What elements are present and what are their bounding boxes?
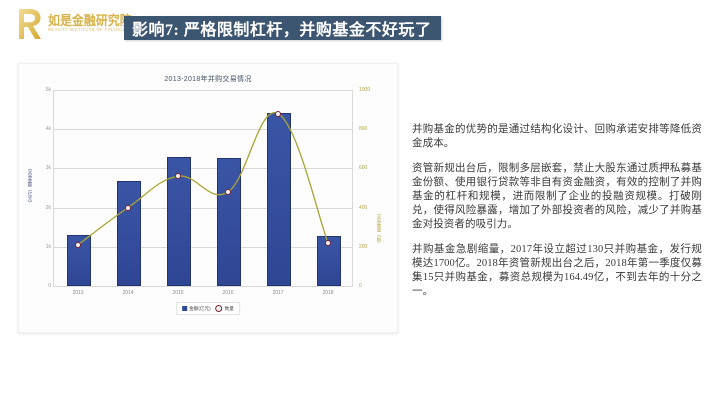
logo-r-mark-icon (12, 6, 48, 42)
chart-y-tick-left: 2k (46, 205, 51, 211)
legend-item-bar: 金额(亿元) (182, 306, 210, 312)
chart-y-tick-left: 3k (46, 165, 51, 171)
brand-logo: 如是金融研究院 REALITY INSTITUTE OF FINANCE (12, 6, 124, 42)
legend-swatch-bar-icon (182, 306, 187, 311)
chart-line-marker (175, 173, 181, 179)
chart-plot-area: 001k2002k4003k6004k8005k1000201320142015… (53, 90, 353, 286)
paragraph-2: 资管新规出台后，限制多层嵌套，禁止大股东通过质押私募基金份额、使用银行贷款等非自… (412, 162, 702, 232)
chart-x-tick: 2017 (272, 290, 283, 296)
chart-line-marker (125, 205, 131, 211)
chart-y-tick-left: 0 (48, 283, 51, 289)
chart-x-tick: 2015 (172, 290, 183, 296)
logo-english-name: REALITY INSTITUTE OF FINANCE (48, 27, 126, 36)
chart-title: 2013-2018年并购交易情况 (19, 74, 397, 84)
chart-y-tick-right: 200 (359, 244, 367, 250)
chart-y-tick-right: 0 (359, 283, 362, 289)
logo-chinese-name: 如是金融研究院 (48, 10, 118, 26)
page-title: 影响7: 严格限制杠杆，并购基金不好玩了 (132, 16, 431, 40)
analysis-text-column: 并购基金的优势的是通过结构化设计、回购承诺安排等降低资金成本。 资管新规出台后，… (412, 112, 702, 310)
legend-item-line: 数量 (216, 305, 234, 312)
chart-x-tick: 2013 (72, 290, 83, 296)
chart-y-tick-left: 1k (46, 244, 51, 250)
chart-y-tick-right: 1000 (359, 87, 370, 93)
chart-y-tick-left: 4k (46, 126, 51, 132)
chart-y-tick-right: 800 (359, 126, 367, 132)
chart-line-marker (275, 111, 281, 117)
chart-y-tick-right: 600 (359, 165, 367, 171)
paragraph-3: 并购基金急剧缩量，2017年设立超过130只并购基金，发行规模达1700亿。20… (412, 243, 702, 299)
chart-x-tick: 2018 (322, 290, 333, 296)
chart-x-tick: 2016 (222, 290, 233, 296)
chart-y-axis-label-left: 交易金额（亿元） (27, 169, 33, 205)
page-header: 如是金融研究院 REALITY INSTITUTE OF FINANCE 影响7… (0, 0, 720, 50)
chart-y-tick-right: 400 (359, 205, 367, 211)
chart-line-series (53, 90, 353, 286)
slide-title-banner: 影响7: 严格限制杠杆，并购基金不好玩了 (124, 16, 441, 40)
chart-x-tick: 2014 (122, 290, 133, 296)
chart-gridline (53, 286, 353, 287)
legend-label-line: 数量 (225, 306, 234, 312)
chart-card: 2013-2018年并购交易情况 交易金额（亿元） 交易数量（起） 001k20… (18, 63, 398, 333)
chart-legend: 金额(亿元) 数量 (176, 302, 240, 315)
chart-y-axis-label-right: 交易数量（起） (376, 214, 382, 246)
chart-line-marker (75, 242, 81, 248)
chart-line-marker (225, 189, 231, 195)
chart-line-marker (325, 240, 331, 246)
chart-y-tick-left: 5k (46, 87, 51, 93)
legend-label-bar: 金额(亿元) (189, 306, 210, 312)
paragraph-1: 并购基金的优势的是通过结构化设计、回购承诺安排等降低资金成本。 (412, 123, 702, 151)
legend-swatch-line-icon (216, 305, 223, 312)
